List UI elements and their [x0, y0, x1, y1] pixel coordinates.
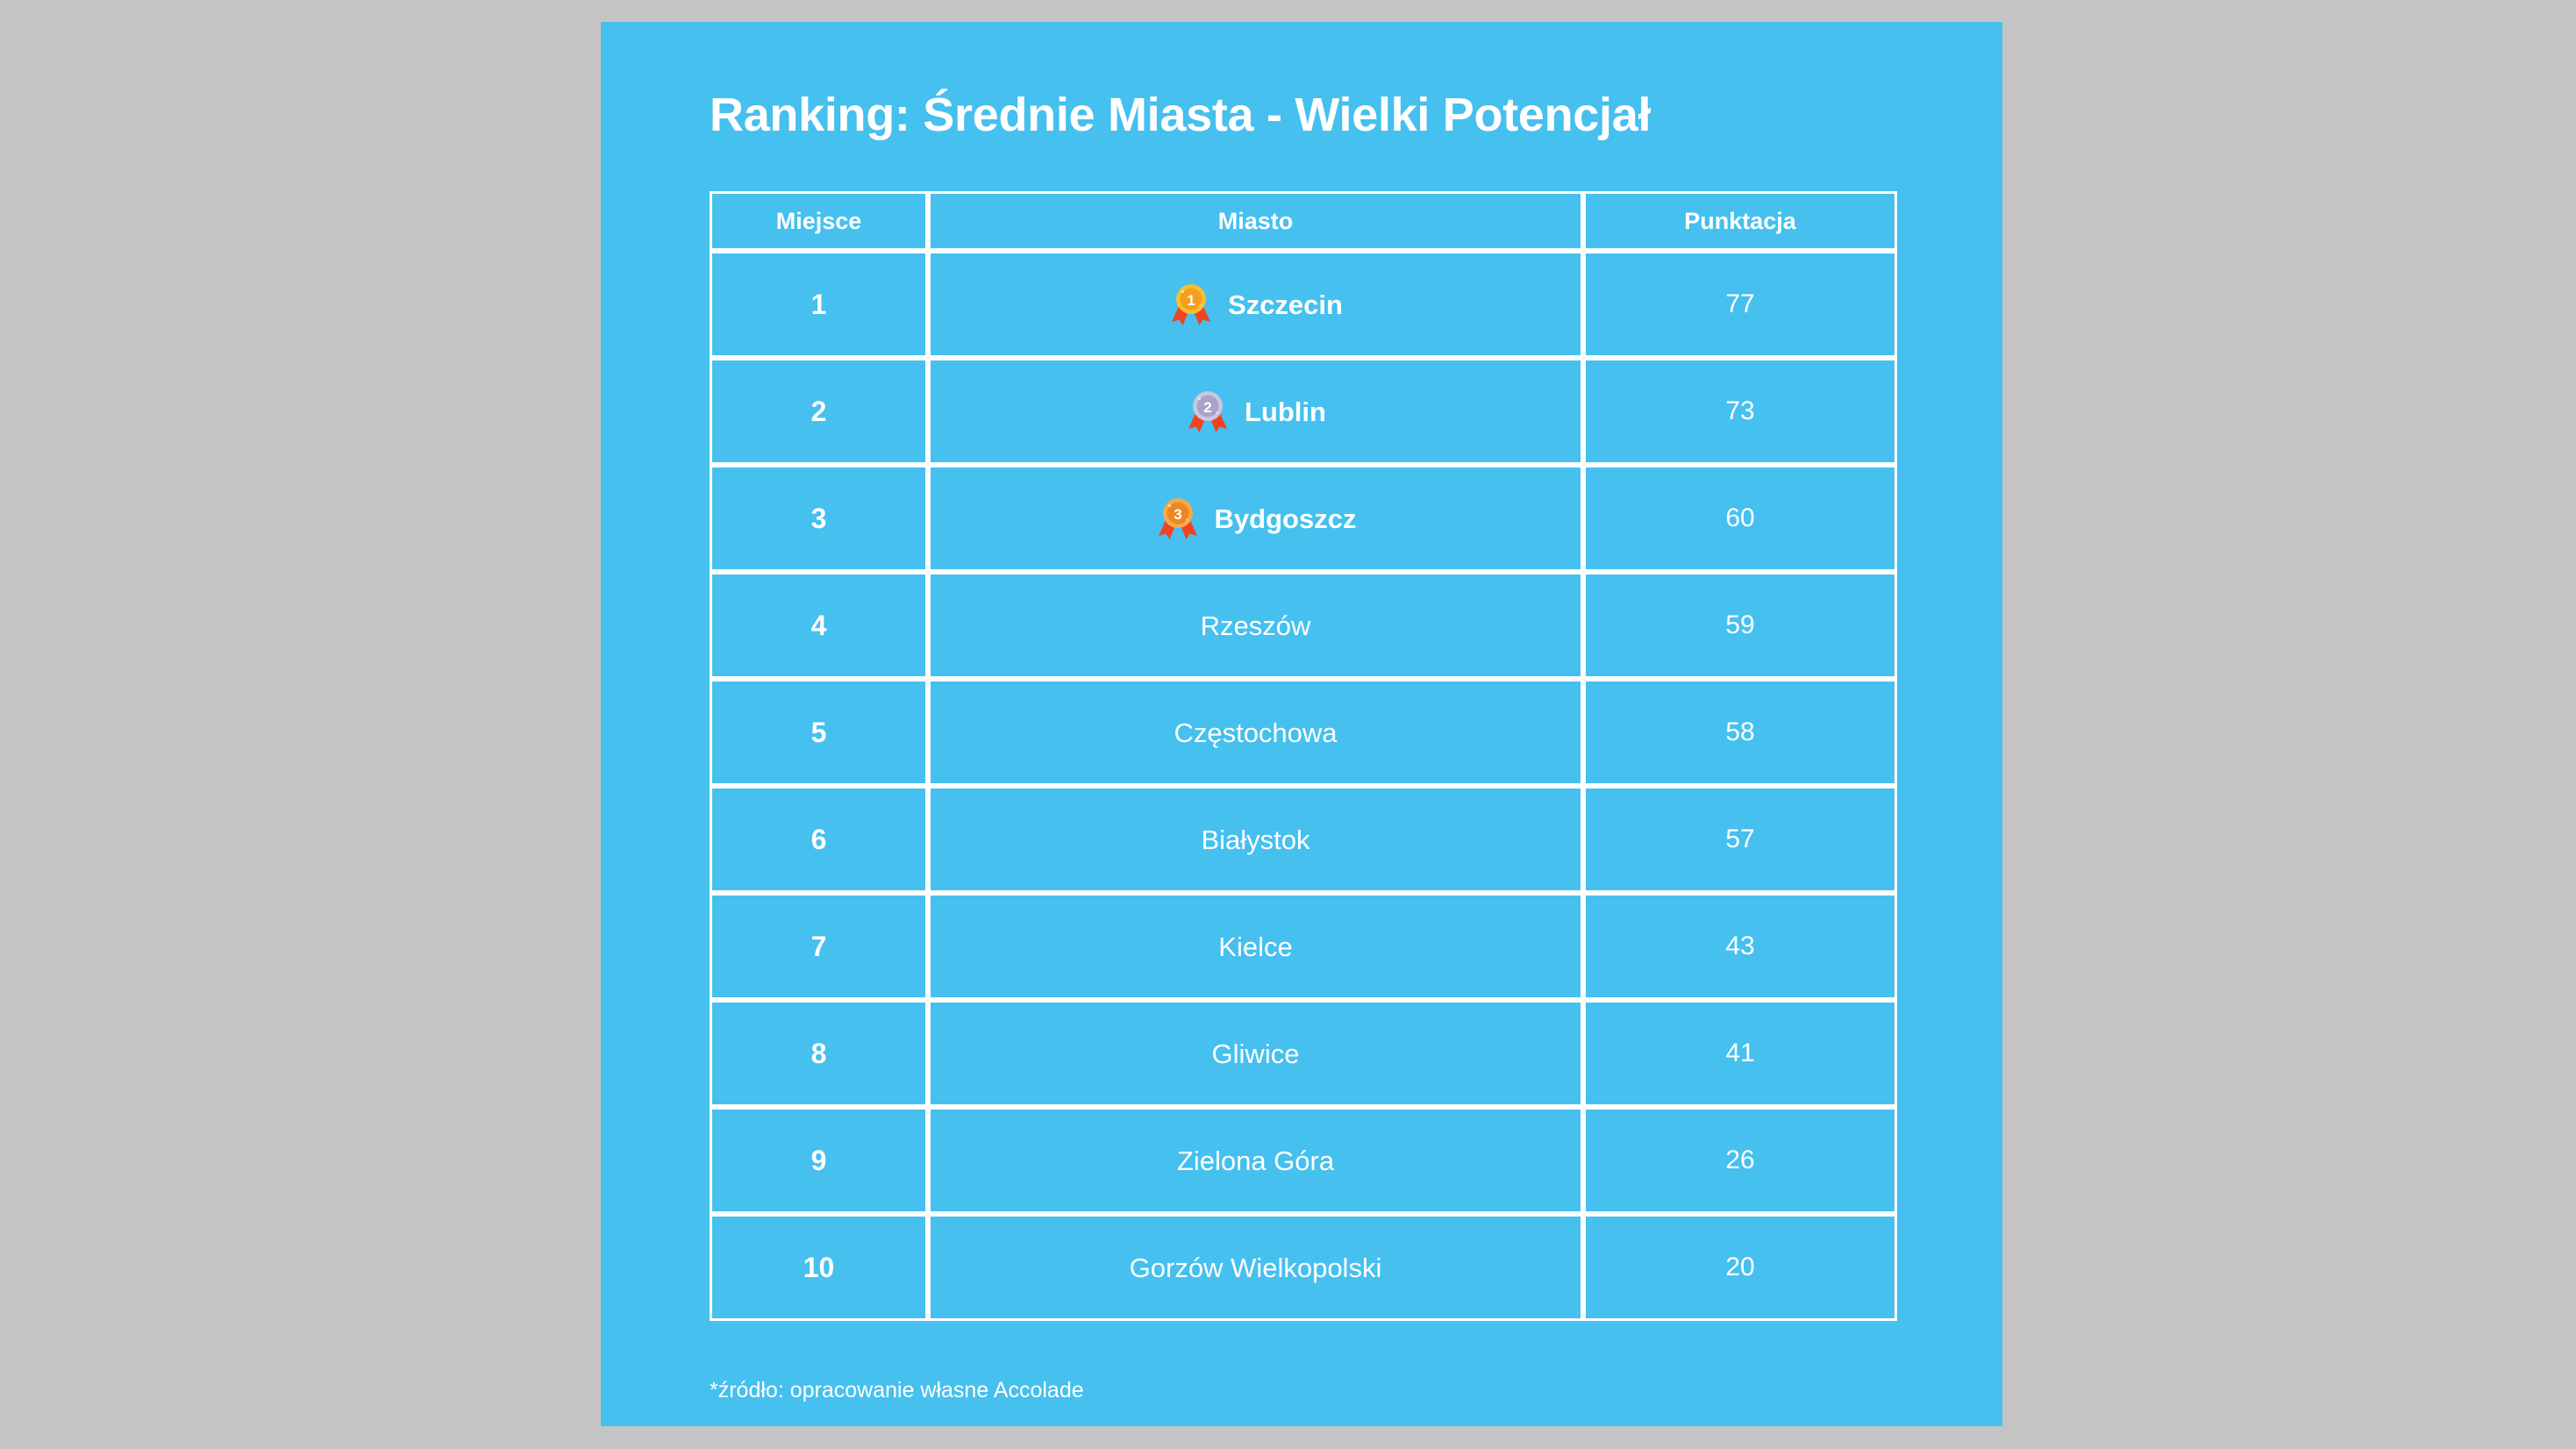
city-cell: Gliwice: [928, 1000, 1583, 1107]
city-name: Szczecin: [1228, 291, 1343, 318]
score-cell: 20: [1583, 1214, 1897, 1321]
city-name: Gorzów Wielkopolski: [1130, 1254, 1382, 1281]
city-name: Białystok: [1201, 826, 1309, 853]
city-cell-content: Gliwice: [931, 1040, 1580, 1067]
city-name: Rzeszów: [1201, 612, 1311, 639]
city-name: Zielona Góra: [1177, 1147, 1334, 1174]
silver-medal-icon: 2: [1185, 389, 1231, 434]
city-cell: Rzeszów: [928, 572, 1583, 679]
rank-cell: 7: [710, 893, 928, 1000]
city-name: Kielce: [1218, 933, 1292, 960]
city-cell: 2Lublin: [928, 358, 1583, 465]
score-cell: 58: [1583, 679, 1897, 786]
score-cell: 57: [1583, 786, 1897, 893]
table-row: 5Częstochowa58: [710, 679, 1897, 786]
table-body: 11Szczecin7722Lublin7333Bydgoszcz604Rzes…: [710, 251, 1897, 1321]
city-cell: 3Bydgoszcz: [928, 465, 1583, 572]
score-cell: 41: [1583, 1000, 1897, 1107]
city-cell: Kielce: [928, 893, 1583, 1000]
rank-cell: 2: [710, 358, 928, 465]
city-cell: Zielona Góra: [928, 1107, 1583, 1214]
screenshot-root: Ranking: Średnie Miasta - Wielki Potencj…: [0, 0, 2576, 1449]
score-cell: 59: [1583, 572, 1897, 679]
city-cell-content: 1Szczecin: [931, 282, 1580, 327]
column-header-score: Punktacja: [1583, 191, 1897, 251]
gold-medal-icon: 1: [1168, 282, 1214, 327]
rank-cell: 4: [710, 572, 928, 679]
table-row: 8Gliwice41: [710, 1000, 1897, 1107]
table-row: 10Gorzów Wielkopolski20: [710, 1214, 1897, 1321]
table-row: 6Białystok57: [710, 786, 1897, 893]
source-footnote: *źródło: opracowanie własne Accolade: [710, 1378, 1084, 1403]
city-name: Gliwice: [1212, 1040, 1300, 1067]
svg-text:2: 2: [1203, 399, 1211, 416]
score-cell: 43: [1583, 893, 1897, 1000]
table-row: 22Lublin73: [710, 358, 1897, 465]
rank-cell: 6: [710, 786, 928, 893]
city-cell-content: Białystok: [931, 826, 1580, 853]
city-cell: 1Szczecin: [928, 251, 1583, 358]
rank-cell: 10: [710, 1214, 928, 1321]
city-cell-content: Gorzów Wielkopolski: [931, 1254, 1580, 1281]
ranking-table: Miejsce Miasto Punktacja 11Szczecin7722L…: [710, 191, 1897, 1321]
city-cell-content: 3Bydgoszcz: [931, 496, 1580, 541]
score-cell: 77: [1583, 251, 1897, 358]
table-row: 7Kielce43: [710, 893, 1897, 1000]
city-cell: Białystok: [928, 786, 1583, 893]
city-name: Lublin: [1245, 398, 1326, 425]
city-name: Bydgoszcz: [1215, 505, 1357, 532]
table-header: Miejsce Miasto Punktacja: [710, 191, 1897, 251]
svg-text:3: 3: [1174, 506, 1181, 523]
column-header-city: Miasto: [928, 191, 1583, 251]
table-row: 33Bydgoszcz60: [710, 465, 1897, 572]
rank-cell: 3: [710, 465, 928, 572]
rank-cell: 1: [710, 251, 928, 358]
city-name: Częstochowa: [1174, 719, 1337, 746]
city-cell-content: Częstochowa: [931, 719, 1580, 746]
city-cell-content: 2Lublin: [931, 389, 1580, 434]
score-cell: 26: [1583, 1107, 1897, 1214]
rank-cell: 8: [710, 1000, 928, 1107]
table-row: 9Zielona Góra26: [710, 1107, 1897, 1214]
city-cell-content: Kielce: [931, 933, 1580, 960]
table-header-row: Miejsce Miasto Punktacja: [710, 191, 1897, 251]
bronze-medal-icon: 3: [1155, 496, 1201, 541]
table-row: 11Szczecin77: [710, 251, 1897, 358]
rank-cell: 5: [710, 679, 928, 786]
city-cell: Gorzów Wielkopolski: [928, 1214, 1583, 1321]
column-header-rank: Miejsce: [710, 191, 928, 251]
rank-cell: 9: [710, 1107, 928, 1214]
city-cell-content: Rzeszów: [931, 612, 1580, 639]
ranking-card: Ranking: Średnie Miasta - Wielki Potencj…: [601, 22, 2002, 1426]
ranking-table-container: Miejsce Miasto Punktacja 11Szczecin7722L…: [710, 191, 1897, 1321]
table-row: 4Rzeszów59: [710, 572, 1897, 679]
score-cell: 60: [1583, 465, 1897, 572]
score-cell: 73: [1583, 358, 1897, 465]
page-title: Ranking: Średnie Miasta - Wielki Potencj…: [710, 88, 1651, 142]
city-cell: Częstochowa: [928, 679, 1583, 786]
svg-text:1: 1: [1187, 292, 1195, 309]
city-cell-content: Zielona Góra: [931, 1147, 1580, 1174]
